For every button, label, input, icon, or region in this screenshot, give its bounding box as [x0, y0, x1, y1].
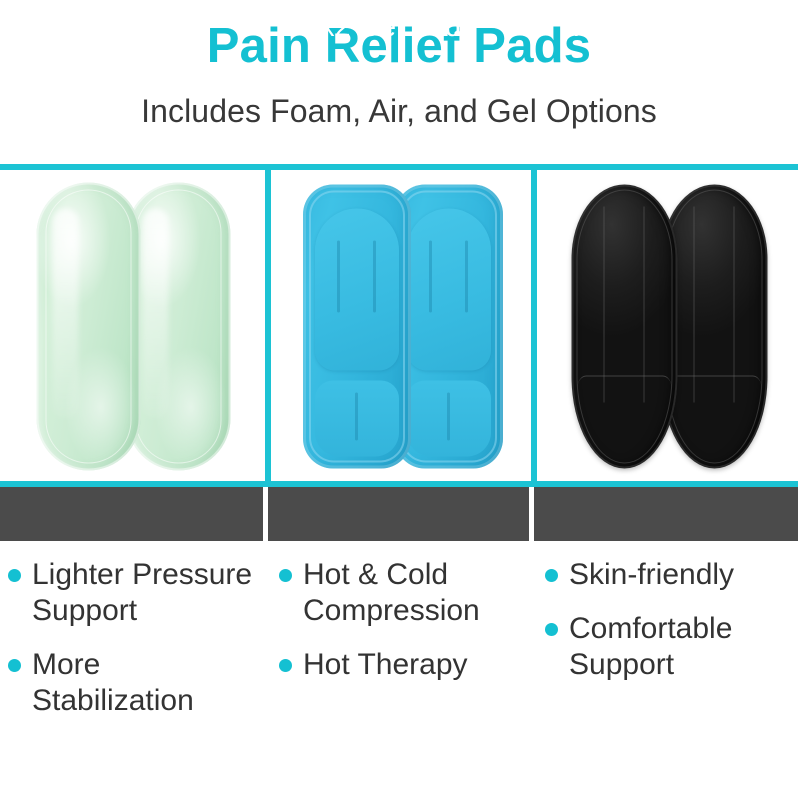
- gel-pad-groove: [429, 240, 432, 312]
- column-label-bar: [0, 487, 798, 541]
- page-subtitle: Includes Foam, Air, and Gel Options: [0, 95, 798, 127]
- foam-pad-stitch: [693, 206, 694, 402]
- air-pad-highlight: [142, 208, 168, 418]
- list-item: Hot & Cold Compression: [279, 557, 525, 629]
- foam-pad-stitch: [643, 206, 644, 402]
- gel-pad-groove: [465, 240, 468, 312]
- feature-text: Comfortable Support: [569, 611, 792, 683]
- gel-pad-groove: [373, 240, 376, 312]
- list-item: Comfortable Support: [545, 611, 792, 683]
- air-pad-right: [126, 182, 230, 470]
- gel-pad-panel: [315, 208, 399, 370]
- bullet-icon: [545, 623, 558, 636]
- feature-list-air-pads: Lighter Pressure Support More Stabilizat…: [0, 541, 265, 798]
- product-image-gel-pads: [271, 170, 531, 481]
- gel-pad-right: [395, 184, 503, 468]
- column-label-gel-pads: x2 Gel Pads: [268, 0, 528, 54]
- column-label-air-pads: x2 Air Pads: [0, 0, 262, 54]
- feature-list-gel-pads: Hot & Cold Compression Hot Therapy: [271, 541, 531, 798]
- foam-pad-stitch: [603, 206, 604, 402]
- feature-list-foam-pads: Skin-friendly Comfortable Support: [537, 541, 798, 798]
- bullet-icon: [279, 659, 292, 672]
- gel-pad-groove: [337, 240, 340, 312]
- label-bar-separator-2: [529, 487, 534, 541]
- air-pad-left: [36, 182, 140, 470]
- feature-bullets-row: Lighter Pressure Support More Stabilizat…: [0, 541, 798, 798]
- product-image-foam-pads: [537, 170, 798, 481]
- foam-pad-toecap: [667, 375, 761, 462]
- column-label-foam-pads: x2 Foam Pads: [534, 0, 798, 54]
- foam-pad-toecap: [577, 375, 671, 462]
- feature-text: Hot Therapy: [303, 647, 468, 683]
- list-item: Hot Therapy: [279, 647, 525, 683]
- gel-pad-groove: [355, 392, 358, 440]
- gel-pad-groove: [447, 392, 450, 440]
- feature-text: Lighter Pressure Support: [32, 557, 259, 629]
- feature-text: More Stabilization: [32, 647, 259, 719]
- product-image-air-pads: [0, 170, 265, 481]
- bullet-icon: [545, 569, 558, 582]
- bullet-icon: [279, 569, 292, 582]
- label-bar-separator-1: [263, 487, 268, 541]
- gel-pad-left: [303, 184, 411, 468]
- product-infographic: Pain Relief Pads Includes Foam, Air, and…: [0, 0, 798, 798]
- bullet-icon: [8, 659, 21, 672]
- list-item: Skin-friendly: [545, 557, 792, 593]
- foam-pad-stitch: [733, 206, 734, 402]
- list-item: Lighter Pressure Support: [8, 557, 259, 629]
- feature-text: Hot & Cold Compression: [303, 557, 525, 629]
- foam-pad-left: [571, 184, 677, 468]
- air-pad-highlight: [52, 208, 78, 418]
- air-pad-pair: [0, 170, 265, 481]
- foam-pad-pair: [537, 170, 798, 481]
- gel-pad-panel: [407, 208, 491, 370]
- product-image-row: [0, 170, 798, 481]
- list-item: More Stabilization: [8, 647, 259, 719]
- gel-pad-pair: [271, 170, 531, 481]
- feature-text: Skin-friendly: [569, 557, 734, 593]
- bullet-icon: [8, 569, 21, 582]
